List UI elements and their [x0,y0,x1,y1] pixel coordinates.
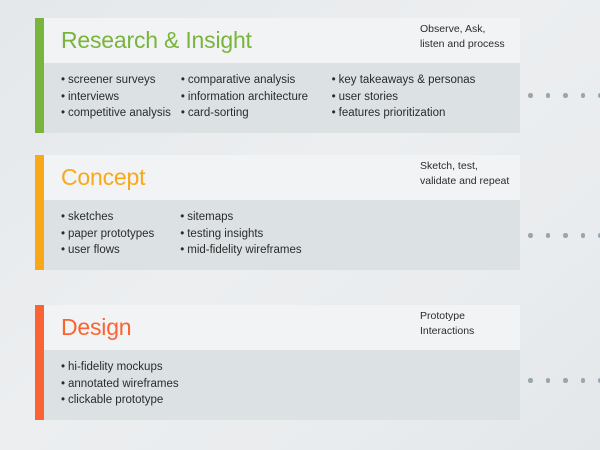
list-item: •interviews [61,89,171,106]
list-item: •testing insights [180,226,321,243]
accent-bar-design [35,305,44,420]
list-item-label: clickable prototype [68,394,163,406]
list-item-label: card-sorting [188,107,249,119]
bullet-dot-icon: • [61,105,68,122]
list-item-label: competitive analysis [68,107,171,119]
list-item-label: user flows [68,244,120,256]
list-item: •screener surveys [61,72,171,89]
annotation-line: Sketch, test, [420,159,540,174]
list-item: •competitive analysis [61,105,171,122]
continuation-dot-icon [581,378,586,383]
list-item-label: comparative analysis [188,74,295,86]
phase-column-2: •comparative analysis •information archi… [181,72,332,122]
bullet-dot-icon: • [332,105,339,122]
continuation-dot-icon [528,378,533,383]
list-item-label: screener surveys [68,74,156,86]
phase-annotation-design: Prototype Interactions [420,309,540,338]
list-item: •user stories [332,89,510,106]
bullet-dot-icon: • [61,376,68,393]
annotation-line: Prototype [420,309,540,324]
phase-body-design: •hi-fidelity mockups •annotated wirefram… [35,350,520,420]
list-item-label: information architecture [188,91,308,103]
list-item-label: sketches [68,211,113,223]
continuation-dot-icon [528,233,533,238]
accent-bar-research-and-insight [35,18,44,133]
list-item-label: sitemaps [187,211,233,223]
continuation-dot-icon [546,233,551,238]
list-item: •sketches [61,209,170,226]
list-item-label: user stories [339,91,398,103]
list-item-label: interviews [68,91,119,103]
accent-bar-concept [35,155,44,270]
continuation-dot-icon [581,233,586,238]
phase-annotation-research-and-insight: Observe, Ask, listen and process [420,22,540,51]
bullet-dot-icon: • [61,359,68,376]
list-item: •clickable prototype [61,392,171,409]
list-item: •sitemaps [180,209,321,226]
bullet-dot-icon: • [332,89,339,106]
list-item: •mid-fidelity wireframes [180,242,321,259]
bullet-dot-icon: • [61,226,68,243]
annotation-line: listen and process [420,37,540,52]
phase-title-research-and-insight: Research & Insight [61,29,252,52]
phase-title-design: Design [61,316,131,339]
continuation-dot-icon [581,93,586,98]
annotation-line: Observe, Ask, [420,22,540,37]
continuation-dot-icon [546,378,551,383]
list-item-label: testing insights [187,228,263,240]
phase-title-concept: Concept [61,166,145,189]
list-item: •paper prototypes [61,226,170,243]
bullet-dot-icon: • [61,392,68,409]
phase-column-1: •screener surveys •interviews •competiti… [61,72,181,122]
bullet-dot-icon: • [181,89,188,106]
phase-annotation-concept: Sketch, test, validate and repeat [420,159,540,188]
continuation-dot-icon [563,93,568,98]
list-item: •hi-fidelity mockups [61,359,171,376]
annotation-line: validate and repeat [420,174,540,189]
bullet-dot-icon: • [61,209,68,226]
list-item: •key takeaways & personas [332,72,510,89]
continuation-dots-concept [528,233,600,238]
bullet-dot-icon: • [181,105,188,122]
bullet-dot-icon: • [61,72,68,89]
list-item: •annotated wireframes [61,376,171,393]
list-item-label: key takeaways & personas [339,74,476,86]
phase-body-concept: •sketches •paper prototypes •user flows … [35,200,520,270]
continuation-dot-icon [528,93,533,98]
list-item: •comparative analysis [181,72,322,89]
list-item-label: mid-fidelity wireframes [187,244,301,256]
continuation-dot-icon [546,93,551,98]
phase-column-1: •sketches •paper prototypes •user flows [61,209,180,259]
bullet-dot-icon: • [61,242,68,259]
list-item: •user flows [61,242,170,259]
bullet-dot-icon: • [332,72,339,89]
list-item-label: annotated wireframes [68,378,179,390]
annotation-line: Interactions [420,324,540,339]
list-item-label: paper prototypes [68,228,154,240]
list-item: •features prioritization [332,105,510,122]
continuation-dots-design [528,378,600,383]
phase-column-3: •key takeaways & personas •user stories … [332,72,520,122]
bullet-dot-icon: • [61,89,68,106]
list-item: •card-sorting [181,105,322,122]
continuation-dot-icon [563,233,568,238]
list-item-label: hi-fidelity mockups [68,361,163,373]
phase-column-1: •hi-fidelity mockups •annotated wirefram… [61,359,181,409]
list-item-label: features prioritization [339,107,446,119]
bullet-dot-icon: • [181,72,188,89]
phase-body-research-and-insight: •screener surveys •interviews •competiti… [35,63,520,133]
list-item: •information architecture [181,89,322,106]
slide-canvas: Research & Insight •screener surveys •in… [0,0,600,450]
continuation-dot-icon [563,378,568,383]
continuation-dots-research-and-insight [528,93,600,98]
phase-column-2: •sitemaps •testing insights •mid-fidelit… [180,209,331,259]
